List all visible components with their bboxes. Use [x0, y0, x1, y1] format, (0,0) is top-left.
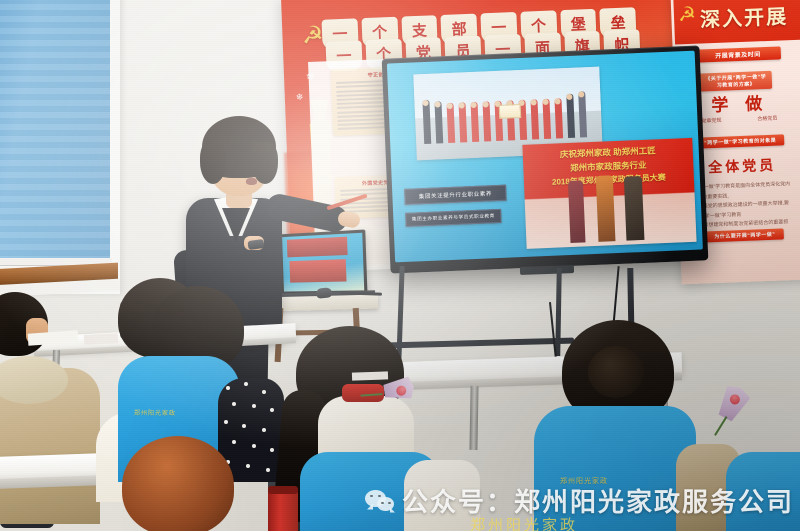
watermark-text: 公众号：郑州阳光家政服务公司	[402, 482, 794, 519]
screenshot-root: ❄ ❄ ☭ 一 个 支 部 一 个 堡 垒 一 个 党 员 一 面 旗 帜 守正…	[0, 0, 800, 531]
scene-lighting	[0, 0, 800, 531]
wechat-logo-icon	[365, 488, 395, 514]
watermark: 公众号：郑州阳光家政服务公司	[365, 482, 794, 519]
